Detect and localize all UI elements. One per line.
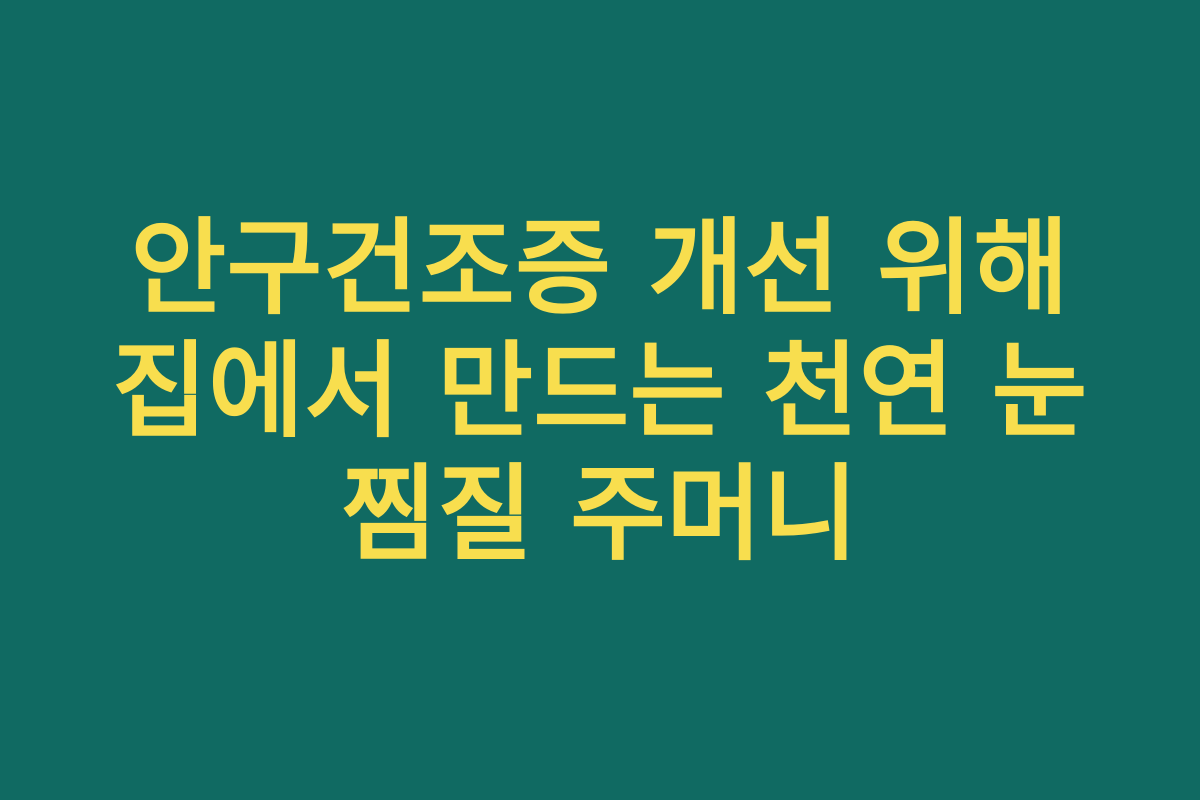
title-card: 안구건조증 개선 위해 집에서 만드는 천연 눈 찜질 주머니 xyxy=(0,0,1200,800)
page-title: 안구건조증 개선 위해 집에서 만드는 천연 눈 찜질 주머니 xyxy=(88,207,1112,576)
headline-block: 안구건조증 개선 위해 집에서 만드는 천연 눈 찜질 주머니 xyxy=(88,207,1112,576)
